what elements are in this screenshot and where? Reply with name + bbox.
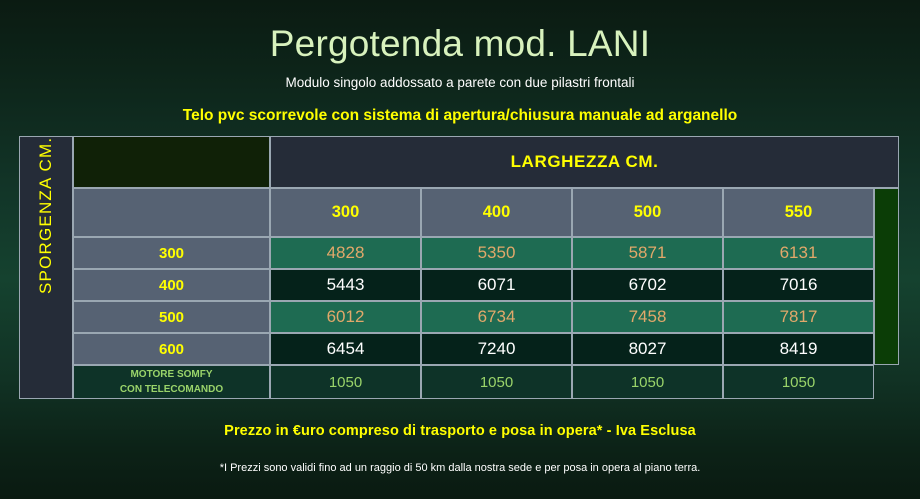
table-row-banner: SPORGENZA CM. LARGHEZZA CM. xyxy=(19,136,899,188)
price-table: SPORGENZA CM. LARGHEZZA CM. 300 400 500 … xyxy=(19,136,899,399)
table-row-column-headers: 300 400 500 550 xyxy=(19,188,899,237)
column-header-300: 300 xyxy=(270,188,421,237)
cell-500-500: 7458 xyxy=(572,301,723,333)
table-row-motor: MOTORE SOMFY CON TELECOMANDO 1050 1050 1… xyxy=(19,365,899,399)
row-label-300: 300 xyxy=(73,237,270,269)
cell-600-500: 8027 xyxy=(572,333,723,365)
cell-300-550: 6131 xyxy=(723,237,874,269)
footer-price-note: Prezzo in €uro compreso di trasporto e p… xyxy=(0,423,920,439)
cell-motor-300: 1050 xyxy=(270,365,421,399)
sub-header-blank xyxy=(73,188,270,237)
cell-motor-400: 1050 xyxy=(421,365,572,399)
corner-cell xyxy=(73,136,270,188)
row-label-500: 500 xyxy=(73,301,270,333)
cell-600-300: 6454 xyxy=(270,333,421,365)
column-group-header-larghezza: LARGHEZZA CM. xyxy=(270,136,899,188)
cell-500-400: 6734 xyxy=(421,301,572,333)
cell-motor-550: 1050 xyxy=(723,365,874,399)
subtitle-primary: Modulo singolo addossato a parete con du… xyxy=(0,66,920,92)
right-accent-strip xyxy=(874,188,899,365)
cell-300-400: 5350 xyxy=(421,237,572,269)
column-header-500: 500 xyxy=(572,188,723,237)
cell-400-500: 6702 xyxy=(572,269,723,301)
cell-600-400: 7240 xyxy=(421,333,572,365)
column-header-550: 550 xyxy=(723,188,874,237)
table-row: 400 5443 6071 6702 7016 xyxy=(19,269,899,301)
cell-400-550: 7016 xyxy=(723,269,874,301)
cell-300-500: 5871 xyxy=(572,237,723,269)
row-label-motore-somfy: MOTORE SOMFY CON TELECOMANDO xyxy=(73,365,270,399)
page-title: Pergotenda mod. LANI xyxy=(0,0,920,66)
row-label-400: 400 xyxy=(73,269,270,301)
cell-500-550: 7817 xyxy=(723,301,874,333)
cell-500-300: 6012 xyxy=(270,301,421,333)
slide-canvas: Pergotenda mod. LANI Modulo singolo addo… xyxy=(0,0,920,499)
table-row: 500 6012 6734 7458 7817 xyxy=(19,301,899,333)
column-header-400: 400 xyxy=(421,188,572,237)
motor-label-line-1: MOTORE SOMFY xyxy=(130,369,212,380)
motor-label-line-2: CON TELECOMANDO xyxy=(120,384,223,395)
footer-block: Prezzo in €uro compreso di trasporto e p… xyxy=(0,423,920,474)
footer-disclaimer: *I Prezzi sono validi fino ad un raggio … xyxy=(0,439,920,474)
cell-600-550: 8419 xyxy=(723,333,874,365)
side-header-label: SPORGENZA CM. xyxy=(36,242,56,294)
cell-300-300: 4828 xyxy=(270,237,421,269)
heading-block: Pergotenda mod. LANI Modulo singolo addo… xyxy=(0,0,920,126)
side-header-sporgenza: SPORGENZA CM. xyxy=(19,136,73,399)
cell-400-300: 5443 xyxy=(270,269,421,301)
subtitle-secondary: Telo pvc scorrevole con sistema di apert… xyxy=(0,92,920,125)
table-row: 600 6454 7240 8027 8419 xyxy=(19,333,899,365)
row-label-600: 600 xyxy=(73,333,270,365)
cell-400-400: 6071 xyxy=(421,269,572,301)
cell-motor-500: 1050 xyxy=(572,365,723,399)
table-row: 300 4828 5350 5871 6131 xyxy=(19,237,899,269)
